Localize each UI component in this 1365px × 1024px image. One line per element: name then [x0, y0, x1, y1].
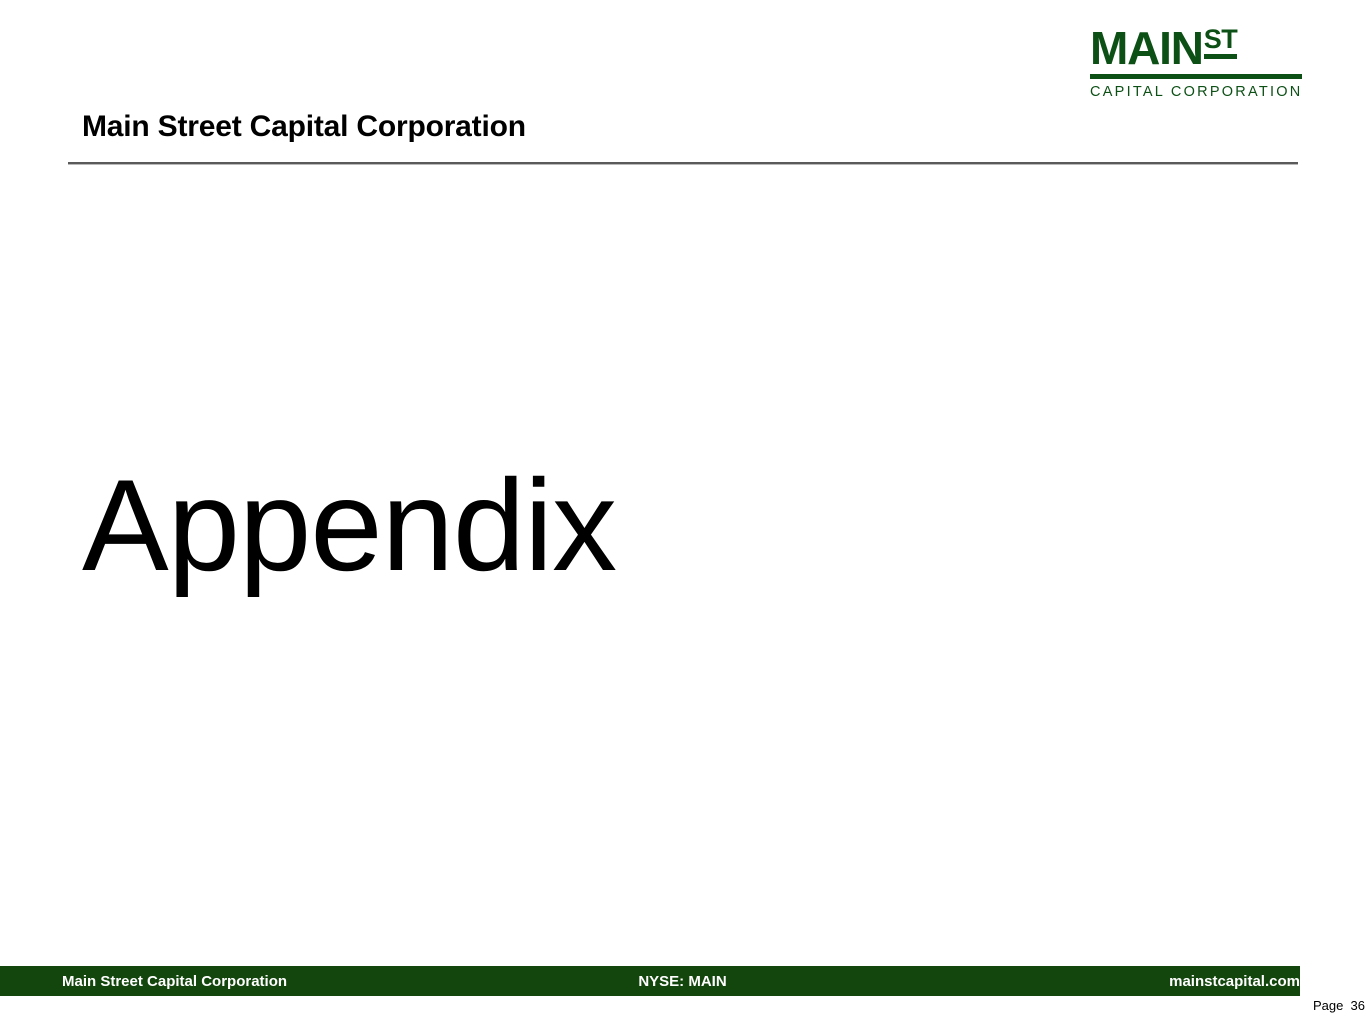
- logo-wordmark: MAIN ST: [1090, 26, 1302, 72]
- footer-bar: Main Street Capital Corporation NYSE: MA…: [0, 966, 1300, 996]
- footer-website: mainstcapital.com: [1169, 973, 1300, 990]
- page-title: Main Street Capital Corporation: [82, 110, 526, 144]
- footer-ticker: NYSE: MAIN: [0, 973, 1365, 990]
- logo-underline-rule: [1090, 74, 1302, 79]
- company-logo: MAIN ST CAPITAL CORPORATION: [1090, 26, 1302, 100]
- presentation-slide: MAIN ST CAPITAL CORPORATION Main Street …: [0, 0, 1365, 1024]
- logo-st-text: ST: [1204, 26, 1238, 59]
- title-divider: [68, 162, 1298, 165]
- logo-subtitle: CAPITAL CORPORATION: [1090, 84, 1302, 100]
- page-number: Page 36: [1313, 998, 1365, 1013]
- section-headline: Appendix: [82, 455, 616, 595]
- logo-main-text: MAIN: [1090, 26, 1203, 71]
- logo-superscript-wrap: ST: [1204, 26, 1238, 61]
